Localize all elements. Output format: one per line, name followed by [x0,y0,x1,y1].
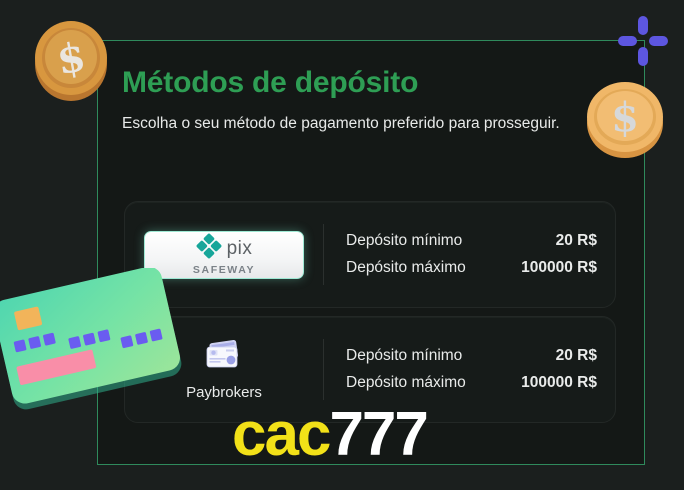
limit-label: Depósito mínimo [346,228,462,254]
page-subtitle: Escolha o seu método de pagamento prefer… [122,113,572,135]
page-title: Métodos de depósito [122,67,614,99]
payment-method-row[interactable]: pix SAFEWAY Depósito mínimo 20 R$ Depósi… [124,201,616,308]
pix-diamond-icon [196,233,222,264]
pix-wordmark: pix [227,239,253,258]
limit-label: Depósito máximo [346,370,466,396]
limit-row-max: Depósito máximo 100000 R$ [346,370,597,396]
limit-label: Depósito máximo [346,255,466,281]
pix-logo-row: pix [196,233,253,264]
payment-method-limits: Depósito mínimo 20 R$ Depósito máximo 10… [324,343,615,395]
limit-value: 20 R$ [556,343,597,369]
limit-row-max: Depósito máximo 100000 R$ [346,255,597,281]
payment-method-brand: pix SAFEWAY [125,231,323,279]
payment-methods-list: pix SAFEWAY Depósito mínimo 20 R$ Depósi… [124,201,616,431]
limit-value: 20 R$ [556,228,597,254]
svg-text:$: $ [53,33,89,84]
limit-value: 100000 R$ [521,370,597,396]
pix-safeway-logo: pix SAFEWAY [144,231,304,279]
credit-cards-icon [202,339,246,378]
pix-safeway-wordmark: SAFEWAY [193,265,255,276]
payment-method-limits: Depósito mínimo 20 R$ Depósito máximo 10… [324,228,615,280]
watermark: cac777 [232,404,427,466]
watermark-part-two: 777 [329,400,426,469]
limit-value: 100000 R$ [521,255,597,281]
payment-method-brand: Paybrokers [125,339,323,401]
deposit-methods-page: Métodos de depósito Escolha o seu método… [0,0,684,490]
payment-method-name: Paybrokers [186,384,262,401]
watermark-part-one: cac [232,400,329,469]
limit-row-min: Depósito mínimo 20 R$ [346,228,597,254]
limit-label: Depósito mínimo [346,343,462,369]
limit-row-min: Depósito mínimo 20 R$ [346,343,597,369]
